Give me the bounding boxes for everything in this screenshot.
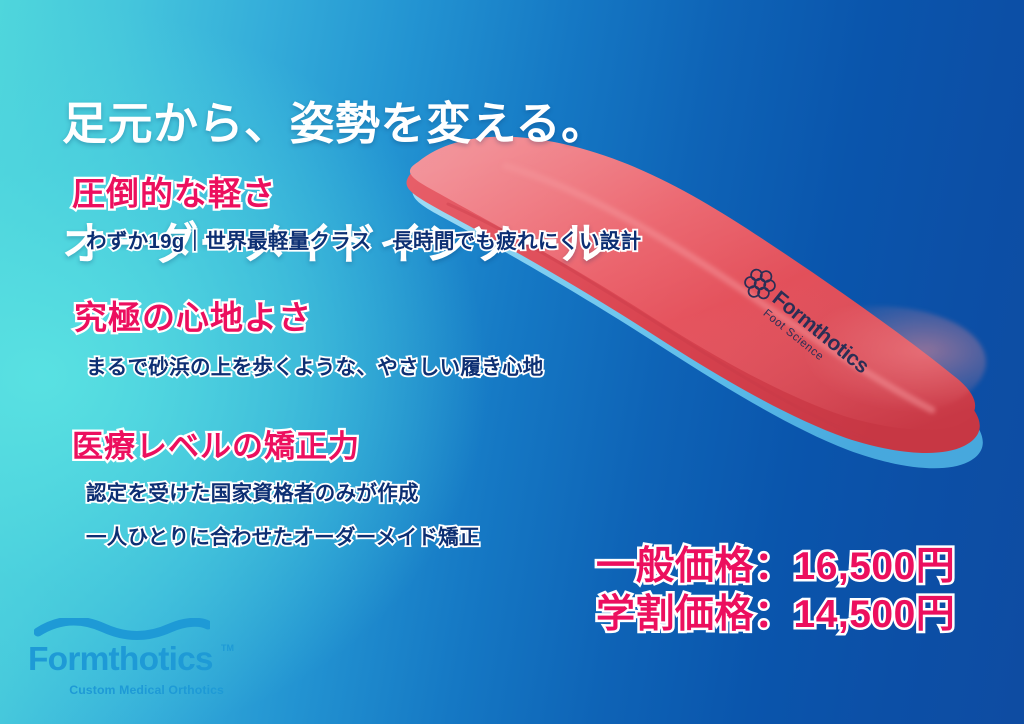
feature-title-lightweight: 圧倒的な軽さ bbox=[72, 176, 641, 213]
logo-tagline: Custom Medical Orthotics bbox=[28, 683, 224, 697]
brand-logo: Formthotics TM Custom Medical Orthotics bbox=[28, 618, 228, 697]
feature-block-medical: 医療レベルの矯正力 認定を受けた国家資格者のみが作成 一人ひとりに合わせたオーダ… bbox=[72, 430, 480, 554]
headline-line-1: 足元から、姿勢を変える。 bbox=[62, 94, 607, 154]
trademark-symbol: TM bbox=[221, 644, 234, 653]
feature-sub-medical-1: 認定を受けた国家資格者のみが作成 bbox=[86, 479, 480, 510]
feature-title-medical: 医療レベルの矯正力 bbox=[72, 430, 480, 465]
insole-brand-name: Formthotics bbox=[768, 287, 873, 378]
logo-name-row: Formthotics TM bbox=[28, 643, 228, 677]
feature-title-comfort: 究極の心地よさ bbox=[74, 300, 544, 337]
feature-block-comfort: 究極の心地よさ まるで砂浜の上を歩くような、やさしい履き心地 bbox=[74, 300, 544, 384]
feature-sub-lightweight: わずか19g｜世界最軽量クラス 長時間でも疲れにくい設計 bbox=[86, 227, 641, 258]
price-student: 学割価格：14,500円 bbox=[596, 591, 955, 639]
price-regular: 一般価格：16,500円 bbox=[596, 543, 955, 591]
poster-canvas: Formthotics Foot Science 足元から、姿勢を変える。 オー… bbox=[0, 0, 1024, 724]
feature-sub-medical-2: 一人ひとりに合わせたオーダーメイド矯正 bbox=[86, 523, 480, 554]
insole-heel-highlight bbox=[766, 306, 986, 418]
feature-sub-comfort: まるで砂浜の上を歩くような、やさしい履き心地 bbox=[86, 353, 544, 384]
logo-wordmark: Formthotics bbox=[28, 643, 213, 677]
pricing-block: 一般価格：16,500円 学割価格：14,500円 bbox=[596, 543, 955, 638]
feature-block-lightweight: 圧倒的な軽さ わずか19g｜世界最軽量クラス 長時間でも疲れにくい設計 bbox=[72, 176, 641, 258]
flower-logo-icon bbox=[740, 264, 780, 305]
insole-brand-print: Formthotics Foot Science bbox=[734, 264, 876, 389]
wave-icon bbox=[34, 618, 210, 642]
insole-brand-sub: Foot Science bbox=[761, 307, 826, 363]
